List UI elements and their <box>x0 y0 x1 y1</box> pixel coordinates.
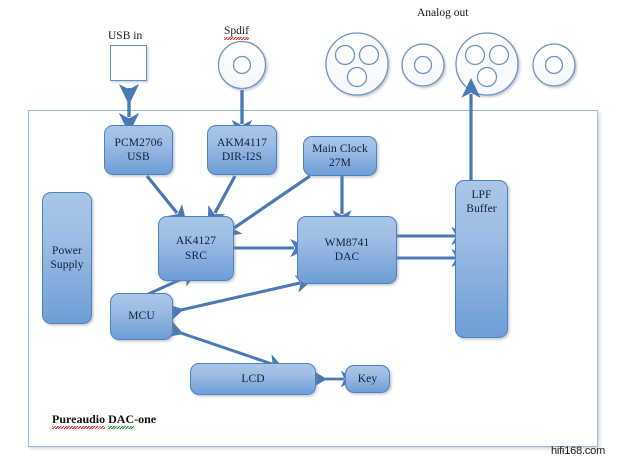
arrow-pcm-to-src <box>147 176 177 213</box>
block-lpf-buffer[interactable]: LPF Buffer <box>455 180 508 338</box>
pcm2706-line2: USB <box>115 150 163 164</box>
akm4117-line1: AKM4117 <box>217 136 267 150</box>
arrow-mcu-to-dac <box>172 283 300 312</box>
block-key[interactable]: Key <box>345 365 390 393</box>
block-diagram-canvas: USB in Spdif Analog out Power Supply PCM… <box>0 0 626 467</box>
brand-label: Pureaudio DAC-one <box>52 412 156 427</box>
brand-word-pureaudio: Pureaudio <box>52 412 105 427</box>
block-wm8741-dac[interactable]: WM8741 DAC <box>297 216 397 284</box>
wm8741-line1: WM8741 <box>325 236 370 250</box>
analog-out-label: Analog out <box>417 7 468 19</box>
block-main-clock[interactable]: Main Clock 27M <box>303 136 377 176</box>
ak4127-line2: SRC <box>176 249 216 263</box>
block-pcm2706-usb[interactable]: PCM2706 USB <box>104 125 173 175</box>
usb-in-label: USB in <box>108 30 142 42</box>
lcd-line1: LCD <box>241 372 264 386</box>
spdif-label-text: Spdif <box>224 25 249 37</box>
power-supply-line2: Supply <box>50 258 83 272</box>
block-akm4117-dir[interactable]: AKM4117 DIR-I2S <box>207 125 277 175</box>
block-lcd[interactable]: LCD <box>190 363 316 395</box>
usb-connector-icon <box>110 45 147 81</box>
brand-word-suffix: -one <box>134 412 156 426</box>
key-line1: Key <box>358 372 377 386</box>
arrow-mcu-to-lcd <box>172 330 272 364</box>
spdif-label: Spdif <box>224 25 249 37</box>
pcm2706-line1: PCM2706 <box>115 136 163 150</box>
analog-out-connector-rca-right <box>533 44 575 86</box>
spdif-connector-icon <box>219 42 266 89</box>
lpf-buffer-line2: Buffer <box>466 202 496 216</box>
power-supply-line1: Power <box>50 244 83 258</box>
block-power-supply[interactable]: Power Supply <box>42 192 92 324</box>
arrow-akm-to-src <box>215 176 235 213</box>
block-mcu[interactable]: MCU <box>110 293 173 340</box>
main-clock-line1: Main Clock <box>312 142 368 156</box>
mcu-line1: MCU <box>128 309 155 323</box>
analog-out-connector-rca-left <box>402 44 444 86</box>
site-watermark: hifi168.com <box>551 445 605 457</box>
ak4127-line1: AK4127 <box>176 234 216 248</box>
wm8741-line2: DAC <box>325 250 370 264</box>
analog-out-connector-xlr-right <box>456 33 518 95</box>
analog-out-connector-xlr-left <box>326 33 388 95</box>
block-ak4127-src[interactable]: AK4127 SRC <box>158 216 234 281</box>
akm4117-line2: DIR-I2S <box>217 150 267 164</box>
brand-word-dac: DAC <box>108 412 134 427</box>
main-clock-line2: 27M <box>312 156 368 170</box>
lpf-buffer-line1: LPF <box>466 188 496 202</box>
